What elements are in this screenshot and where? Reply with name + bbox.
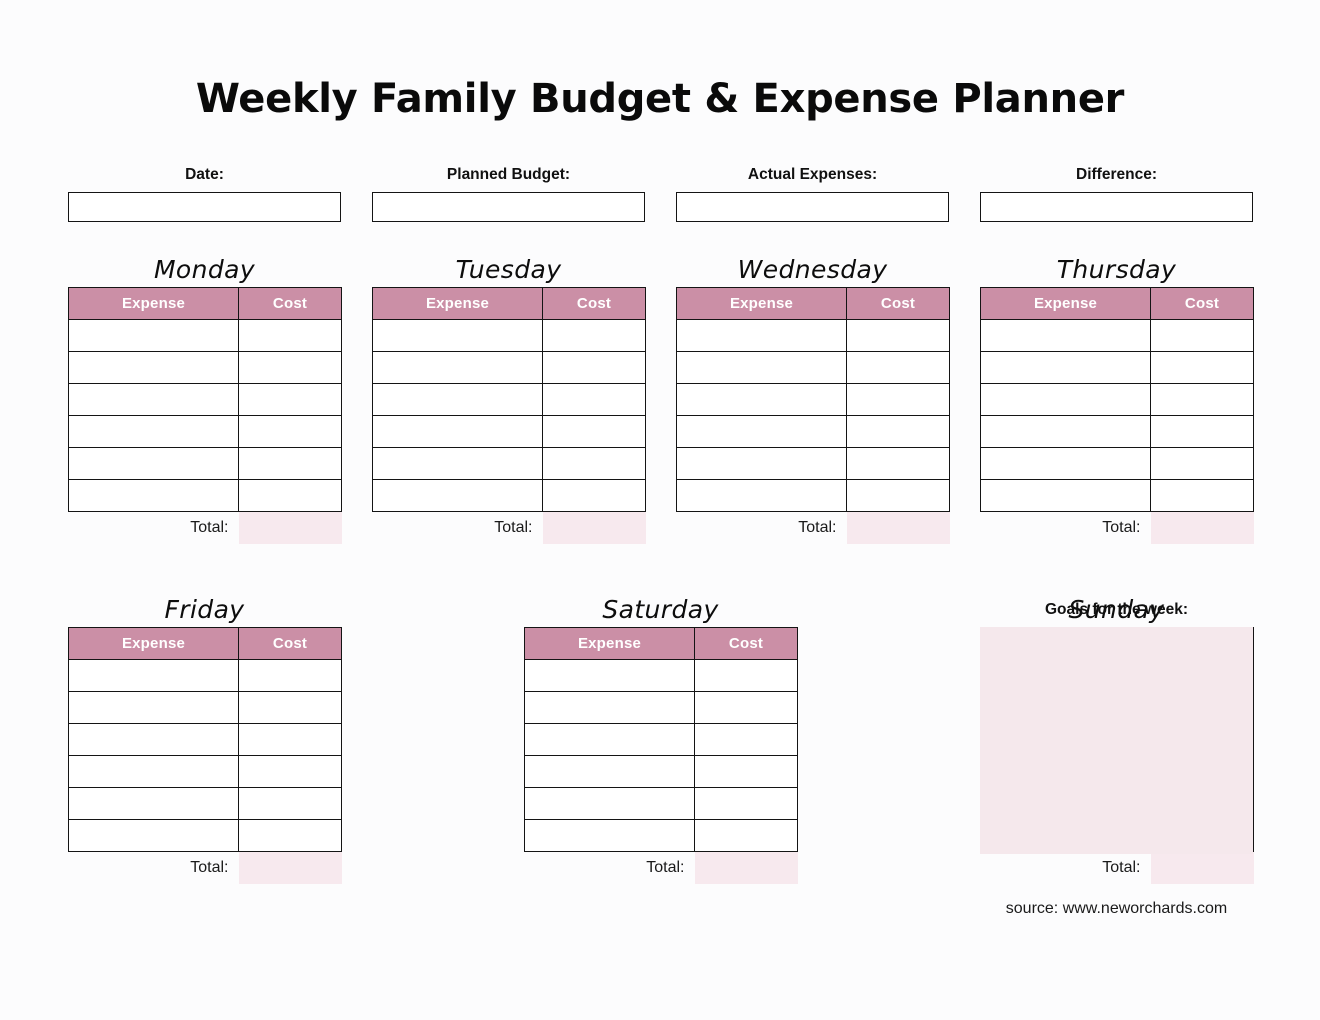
summary-field-difference: Difference: xyxy=(980,166,1253,222)
total-value-friday[interactable] xyxy=(239,852,342,884)
summary-field-actual-expenses: Actual Expenses: xyxy=(676,166,949,222)
expense-rows-wednesday: Total: xyxy=(677,320,950,544)
expense-cell[interactable] xyxy=(69,480,239,512)
table-row xyxy=(69,416,342,448)
expense-rows-tuesday: Total: xyxy=(373,320,646,544)
cost-cell[interactable] xyxy=(847,448,950,480)
cost-cell[interactable] xyxy=(239,820,342,852)
expense-table-friday: Expense Cost Total: xyxy=(68,627,342,884)
cost-cell[interactable] xyxy=(239,448,342,480)
table-row xyxy=(373,320,646,352)
table-row xyxy=(525,820,798,852)
cost-cell[interactable] xyxy=(695,660,798,692)
actual-expenses-input[interactable] xyxy=(676,192,949,222)
expense-cell[interactable] xyxy=(69,384,239,416)
cost-cell[interactable] xyxy=(1151,448,1254,480)
day-block-saturday: Saturday Expense Cost xyxy=(524,595,797,884)
total-value-sunday[interactable] xyxy=(1151,852,1254,884)
expense-cell[interactable] xyxy=(677,352,847,384)
cost-cell[interactable] xyxy=(239,788,342,820)
table-row xyxy=(69,788,342,820)
total-label: Total: xyxy=(677,512,847,544)
expense-cell[interactable] xyxy=(373,480,543,512)
total-label: Total: xyxy=(525,852,695,884)
total-value-tuesday[interactable] xyxy=(543,512,646,544)
table-row xyxy=(525,660,798,692)
planner-page: Weekly Family Budget & Expense Planner D… xyxy=(0,0,1320,1020)
column-header-expense: Expense xyxy=(373,288,543,320)
table-row xyxy=(69,448,342,480)
total-row: Total: xyxy=(69,852,342,884)
day-title-tuesday: Tuesday xyxy=(372,255,645,287)
table-row xyxy=(525,756,798,788)
total-row: Total: xyxy=(525,852,798,884)
expense-rows-saturday: Total: xyxy=(525,660,798,884)
expense-cell[interactable] xyxy=(69,416,239,448)
table-row xyxy=(677,384,950,416)
total-value-monday[interactable] xyxy=(239,512,342,544)
expense-cell[interactable] xyxy=(69,352,239,384)
table-row xyxy=(373,448,646,480)
column-header-cost: Cost xyxy=(1151,288,1254,320)
difference-input[interactable] xyxy=(980,192,1253,222)
table-row xyxy=(525,692,798,724)
column-header-cost: Cost xyxy=(239,288,342,320)
expense-cell[interactable] xyxy=(69,788,239,820)
table-row xyxy=(69,480,342,512)
total-label: Total: xyxy=(981,852,1151,884)
expense-cell[interactable] xyxy=(677,480,847,512)
expense-cell[interactable] xyxy=(525,820,695,852)
table-row xyxy=(69,352,342,384)
cost-cell[interactable] xyxy=(1151,320,1254,352)
table-header-row: Expense Cost xyxy=(525,628,798,660)
expense-rows-thursday: Total: xyxy=(981,320,1254,544)
expense-cell[interactable] xyxy=(677,448,847,480)
day-title-wednesday: Wednesday xyxy=(676,255,949,287)
expense-cell[interactable] xyxy=(981,416,1151,448)
day-block-friday: Friday Expense Cost To xyxy=(68,595,341,884)
table-row xyxy=(373,384,646,416)
table-row xyxy=(69,320,342,352)
expense-cell[interactable] xyxy=(525,724,695,756)
page-title: Weekly Family Budget & Expense Planner xyxy=(0,76,1320,122)
cost-cell[interactable] xyxy=(543,352,646,384)
planned-budget-input[interactable] xyxy=(372,192,645,222)
expense-cell[interactable] xyxy=(373,416,543,448)
cost-cell[interactable] xyxy=(239,320,342,352)
day-title-monday: Monday xyxy=(68,255,341,287)
table-header-row: Expense Cost xyxy=(373,288,646,320)
column-header-cost: Cost xyxy=(695,628,798,660)
cost-cell[interactable] xyxy=(695,724,798,756)
day-grid-row-1: Monday Expense Cost To xyxy=(68,255,1253,544)
table-header-row: Expense Cost xyxy=(677,288,950,320)
table-row xyxy=(373,352,646,384)
cost-cell[interactable] xyxy=(239,660,342,692)
expense-cell[interactable] xyxy=(981,448,1151,480)
total-row: Total: xyxy=(373,512,646,544)
cost-cell[interactable] xyxy=(847,320,950,352)
column-header-expense: Expense xyxy=(69,288,239,320)
expense-table-wednesday: Expense Cost Total: xyxy=(676,287,950,544)
cost-cell[interactable] xyxy=(847,352,950,384)
goals-textarea[interactable] xyxy=(980,627,1253,854)
summary-field-date: Date: xyxy=(68,166,341,222)
cost-cell[interactable] xyxy=(847,384,950,416)
expense-cell[interactable] xyxy=(525,660,695,692)
cost-cell[interactable] xyxy=(239,480,342,512)
expense-cell[interactable] xyxy=(373,352,543,384)
total-row: Total: xyxy=(981,852,1254,884)
summary-label-actual-expenses: Actual Expenses: xyxy=(676,166,949,184)
expense-cell[interactable] xyxy=(525,756,695,788)
cost-cell[interactable] xyxy=(239,756,342,788)
table-row xyxy=(677,448,950,480)
cost-cell[interactable] xyxy=(847,480,950,512)
column-header-expense: Expense xyxy=(677,288,847,320)
day-title-saturday: Saturday xyxy=(524,595,797,627)
table-row xyxy=(677,480,950,512)
expense-rows-monday: Total: xyxy=(69,320,342,544)
cost-cell[interactable] xyxy=(239,384,342,416)
total-value-thursday[interactable] xyxy=(1151,512,1254,544)
expense-cell[interactable] xyxy=(981,480,1151,512)
table-row xyxy=(981,416,1254,448)
cost-cell[interactable] xyxy=(1151,384,1254,416)
expense-cell[interactable] xyxy=(373,384,543,416)
table-row xyxy=(69,756,342,788)
table-row xyxy=(677,416,950,448)
cost-cell[interactable] xyxy=(1151,480,1254,512)
cost-cell[interactable] xyxy=(543,320,646,352)
table-row xyxy=(373,416,646,448)
expense-cell[interactable] xyxy=(69,756,239,788)
cost-cell[interactable] xyxy=(239,724,342,756)
table-row xyxy=(373,480,646,512)
day-title-friday: Friday xyxy=(68,595,341,627)
total-value-wednesday[interactable] xyxy=(847,512,950,544)
table-row xyxy=(525,788,798,820)
cost-cell[interactable] xyxy=(695,820,798,852)
expense-cell[interactable] xyxy=(69,724,239,756)
summary-fields-row: Date: Planned Budget: Actual Expenses: D… xyxy=(68,166,1253,222)
expense-cell[interactable] xyxy=(373,448,543,480)
expense-cell[interactable] xyxy=(677,384,847,416)
table-row xyxy=(69,384,342,416)
total-label: Total: xyxy=(69,852,239,884)
goals-block: Goals for the week: xyxy=(980,595,1253,854)
table-header-row: Expense Cost xyxy=(69,288,342,320)
table-row xyxy=(69,724,342,756)
table-row xyxy=(981,320,1254,352)
expense-cell[interactable] xyxy=(69,660,239,692)
cost-cell[interactable] xyxy=(543,480,646,512)
column-header-cost: Cost xyxy=(543,288,646,320)
expense-table-tuesday: Expense Cost Total: xyxy=(372,287,646,544)
day-block-monday: Monday Expense Cost To xyxy=(68,255,341,544)
cost-cell[interactable] xyxy=(847,416,950,448)
cost-cell[interactable] xyxy=(543,416,646,448)
expense-cell[interactable] xyxy=(981,352,1151,384)
date-input[interactable] xyxy=(68,192,341,222)
expense-table-saturday: Expense Cost Total: xyxy=(524,627,798,884)
column-header-expense: Expense xyxy=(69,628,239,660)
cost-cell[interactable] xyxy=(239,416,342,448)
cost-cell[interactable] xyxy=(695,692,798,724)
expense-rows-friday: Total: xyxy=(69,660,342,884)
column-header-expense: Expense xyxy=(981,288,1151,320)
expense-cell[interactable] xyxy=(981,384,1151,416)
expense-cell[interactable] xyxy=(981,320,1151,352)
day-title-thursday: Thursday xyxy=(980,255,1253,287)
table-row xyxy=(981,448,1254,480)
total-label: Total: xyxy=(981,512,1151,544)
cost-cell[interactable] xyxy=(1151,352,1254,384)
expense-cell[interactable] xyxy=(525,788,695,820)
table-header-row: Expense Cost xyxy=(69,628,342,660)
table-header-row: Expense Cost xyxy=(981,288,1254,320)
day-block-tuesday: Tuesday Expense Cost T xyxy=(372,255,645,544)
total-row: Total: xyxy=(69,512,342,544)
cost-cell[interactable] xyxy=(1151,416,1254,448)
summary-field-planned-budget: Planned Budget: xyxy=(372,166,645,222)
total-row: Total: xyxy=(981,512,1254,544)
cost-cell[interactable] xyxy=(239,352,342,384)
summary-label-planned-budget: Planned Budget: xyxy=(372,166,645,184)
expense-cell[interactable] xyxy=(677,416,847,448)
source-attribution: source: www.neworchards.com xyxy=(980,900,1253,918)
table-row xyxy=(69,660,342,692)
goals-label: Goals for the week: xyxy=(980,595,1253,627)
expense-cell[interactable] xyxy=(69,448,239,480)
table-row xyxy=(981,480,1254,512)
total-label: Total: xyxy=(69,512,239,544)
summary-label-date: Date: xyxy=(68,166,341,184)
expense-cell[interactable] xyxy=(69,692,239,724)
day-block-thursday: Thursday Expense Cost xyxy=(980,255,1253,544)
table-row xyxy=(525,724,798,756)
cost-cell[interactable] xyxy=(239,692,342,724)
expense-cell[interactable] xyxy=(69,320,239,352)
expense-cell[interactable] xyxy=(525,692,695,724)
expense-table-monday: Expense Cost Total: xyxy=(68,287,342,544)
expense-table-thursday: Expense Cost Total: xyxy=(980,287,1254,544)
table-row xyxy=(677,320,950,352)
table-row xyxy=(69,820,342,852)
cost-cell[interactable] xyxy=(543,448,646,480)
table-row xyxy=(677,352,950,384)
summary-label-difference: Difference: xyxy=(980,166,1253,184)
cost-cell[interactable] xyxy=(695,756,798,788)
table-row xyxy=(981,352,1254,384)
cost-cell[interactable] xyxy=(695,788,798,820)
total-value-saturday[interactable] xyxy=(695,852,798,884)
expense-cell[interactable] xyxy=(677,320,847,352)
cost-cell[interactable] xyxy=(543,384,646,416)
table-row xyxy=(981,384,1254,416)
column-header-cost: Cost xyxy=(847,288,950,320)
table-row xyxy=(69,692,342,724)
column-header-cost: Cost xyxy=(239,628,342,660)
day-block-wednesday: Wednesday Expense Cost xyxy=(676,255,949,544)
expense-cell[interactable] xyxy=(69,820,239,852)
total-label: Total: xyxy=(373,512,543,544)
column-header-expense: Expense xyxy=(525,628,695,660)
expense-cell[interactable] xyxy=(373,320,543,352)
total-row: Total: xyxy=(677,512,950,544)
